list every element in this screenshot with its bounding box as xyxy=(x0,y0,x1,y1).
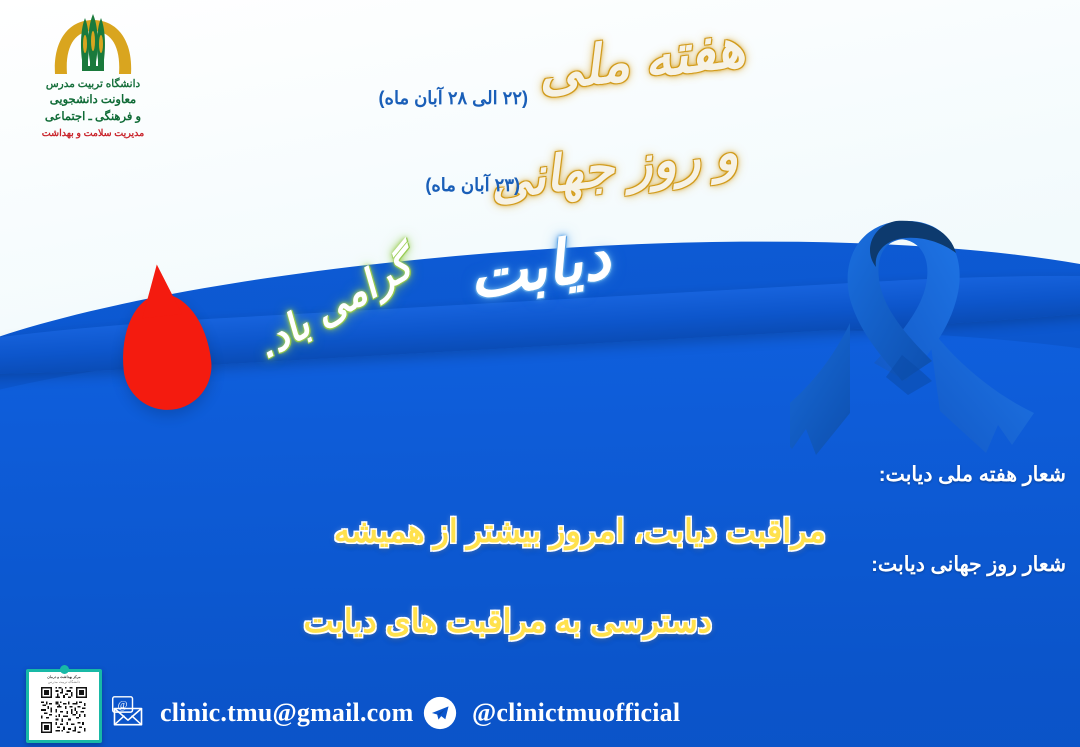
email-address: clinic.tmu@gmail.com xyxy=(160,698,413,728)
logo-department: مدیریت سلامت و بهداشت xyxy=(18,128,168,140)
university-emblem-icon xyxy=(41,10,145,76)
qr-caption-line2: دانشگاه تربیت مدرس xyxy=(48,680,80,685)
headline-national-week-date: (۲۲ الی ۲۸ آبان ماه) xyxy=(379,88,528,109)
logo-deputy-line2: و فرهنگی ـ اجتماعی xyxy=(18,110,168,125)
telegram-handle: @clinictmuofficial xyxy=(472,698,680,728)
qr-card-pin-icon xyxy=(60,665,69,674)
slogan-national-week: مراقبت دیابت، امروز بیشتر از همیشه xyxy=(334,512,826,550)
logo-deputy-line1: معاونت دانشجویی xyxy=(18,93,168,108)
blue-awareness-ribbon-icon xyxy=(790,205,1040,455)
headline-world-day-date: (۲۳ آبان ماه) xyxy=(425,175,520,196)
slogan-world-day: دسترسی به مراقبت های دیابت xyxy=(304,602,712,640)
contact-telegram[interactable]: @clinictmuofficial xyxy=(420,693,680,733)
logo-university-name: دانشگاه تربیت مدرس xyxy=(18,78,168,91)
qr-code-card[interactable]: مرکز بهداشت و درمان دانشگاه تربیت مدرس xyxy=(26,669,102,743)
university-logo: دانشگاه تربیت مدرس معاونت دانشجویی و فره… xyxy=(18,10,168,140)
qr-code-image xyxy=(41,687,87,733)
poster-footer: مرکز بهداشت و درمان دانشگاه تربیت مدرس xyxy=(0,669,1080,747)
telegram-icon xyxy=(420,693,460,733)
envelope-at-icon: @ xyxy=(108,693,148,733)
label-national-week-slogan: شعار هفته ملی دیابت: xyxy=(879,462,1066,487)
label-world-day-slogan: شعار روز جهانی دیابت: xyxy=(871,552,1066,577)
diabetes-awareness-poster: دانشگاه تربیت مدرس معاونت دانشجویی و فره… xyxy=(0,0,1080,747)
contact-email[interactable]: @ clinic.tmu@gmail.com xyxy=(108,693,413,733)
